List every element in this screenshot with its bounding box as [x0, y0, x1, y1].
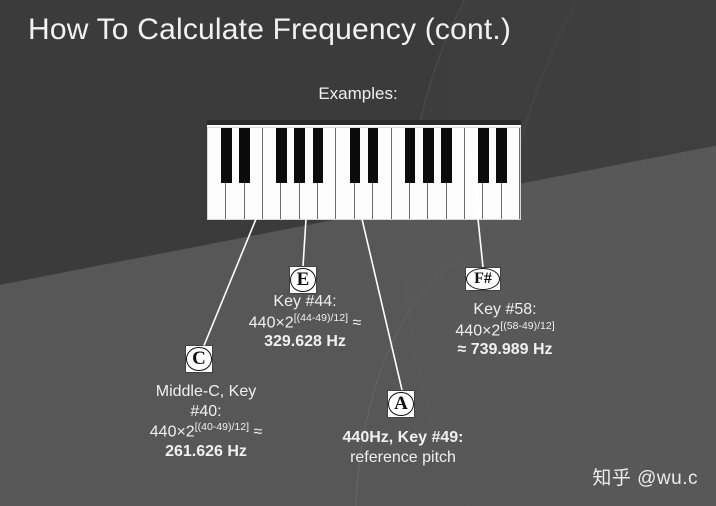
- callout-f-sharp-formula: 440×2[(58-49)/12]: [420, 320, 590, 341]
- callout-f-sharp-formula-exponent: [(58-49)/12]: [500, 320, 554, 332]
- piano-black-key[interactable]: [496, 128, 507, 183]
- background-arc-secondary-decoration: [495, 0, 716, 506]
- piano-black-key[interactable]: [368, 128, 379, 183]
- piano-keyboard[interactable]: [207, 120, 521, 220]
- callout-a-reference-rest: reference pitch: [350, 449, 456, 466]
- callout-e-formula: 440×2[(44-49)/12] ≈: [240, 312, 370, 333]
- examples-label: Examples:: [0, 84, 716, 104]
- piano-black-key[interactable]: [276, 128, 287, 183]
- callout-a-reference: 440Hz, Key #49: reference pitch: [336, 428, 470, 467]
- piano-black-key[interactable]: [478, 128, 489, 183]
- piano-black-key[interactable]: [350, 128, 361, 183]
- piano-black-key[interactable]: [405, 128, 416, 183]
- callout-middle-c-formula-exponent: [(40-49)/12]: [195, 421, 249, 433]
- callout-e-line1: Key #44:: [240, 292, 370, 312]
- callout-e-approx: ≈: [352, 314, 361, 331]
- keyboard-keys-area[interactable]: [207, 127, 521, 220]
- callout-f-sharp-result-value: 739.989 Hz: [471, 341, 553, 358]
- piano-black-key[interactable]: [221, 128, 232, 183]
- callout-f-sharp: Key #58: 440×2[(58-49)/12] ≈ 739.989 Hz: [420, 300, 590, 360]
- callout-middle-c-result: 261.626 Hz: [118, 442, 294, 462]
- piano-black-key[interactable]: [294, 128, 305, 183]
- piano-black-key[interactable]: [313, 128, 324, 183]
- watermark: 知乎 @wu.c: [592, 463, 698, 490]
- callout-e: Key #44: 440×2[(44-49)/12] ≈ 329.628 Hz: [240, 292, 370, 352]
- note-badge-c: C: [186, 346, 212, 372]
- callout-a-reference-text: 440Hz, Key #49: reference pitch: [336, 428, 470, 467]
- callout-middle-c-formula-base: 440×2: [150, 423, 195, 440]
- note-badge-a: A: [388, 391, 414, 417]
- callout-f-sharp-line1: Key #58:: [420, 300, 590, 320]
- callout-a-reference-bold: 440Hz, Key #49:: [343, 429, 464, 446]
- piano-black-key[interactable]: [423, 128, 434, 183]
- callout-middle-c-line2: #40:: [118, 402, 294, 422]
- callout-middle-c-formula: 440×2[(40-49)/12] ≈: [118, 421, 294, 442]
- callout-middle-c: Middle-C, Key #40: 440×2[(40-49)/12] ≈ 2…: [118, 382, 294, 461]
- note-badge-a-label: A: [388, 392, 413, 416]
- callout-middle-c-line1: Middle-C, Key: [118, 382, 294, 402]
- note-badge-c-label: C: [186, 347, 211, 371]
- slide-title: How To Calculate Frequency (cont.): [28, 8, 688, 52]
- slide-canvas: How To Calculate Frequency (cont.) Examp…: [0, 0, 716, 506]
- note-badge-f-sharp: F#: [466, 268, 500, 290]
- callout-middle-c-approx: ≈: [253, 423, 262, 440]
- callout-e-formula-exponent: [(44-49)/12]: [294, 312, 348, 324]
- callout-f-sharp-result: ≈ 739.989 Hz: [420, 340, 590, 360]
- callout-e-formula-base: 440×2: [249, 314, 294, 331]
- callout-f-sharp-approx: ≈: [457, 341, 466, 358]
- note-badge-e-label: E: [290, 268, 315, 292]
- callout-f-sharp-formula-base: 440×2: [455, 322, 500, 339]
- callout-e-result: 329.628 Hz: [240, 332, 370, 352]
- note-badge-e: E: [290, 267, 316, 293]
- piano-black-key[interactable]: [239, 128, 250, 183]
- note-badge-f-sharp-label: F#: [466, 268, 500, 290]
- piano-black-key[interactable]: [441, 128, 452, 183]
